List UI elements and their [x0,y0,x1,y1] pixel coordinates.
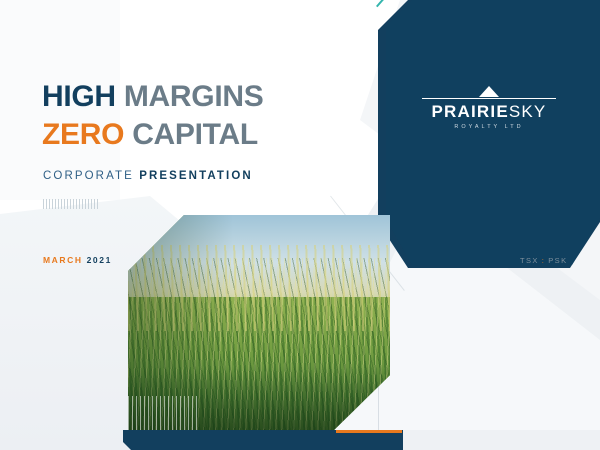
headline-capital: CAPITAL [132,118,258,151]
headline-zero: ZERO [42,118,124,151]
slide-headline: HIGH MARGINS ZERO CAPITAL [42,78,263,155]
headline-margins: MARGINS [124,80,264,113]
logo-chevron-icon [414,86,564,100]
photo-hatch-overlay [128,396,198,430]
footer-accent-orange [336,430,402,433]
footer-bar-navy [123,430,403,450]
hatch-decoration [43,199,99,209]
headline-line-1: HIGH MARGINS [42,78,263,116]
slide-subtitle: CORPORATE PRESENTATION [43,170,253,182]
stock-ticker: TSX:PSK [520,256,568,265]
logo-subtitle: ROYALTY LTD [414,124,564,130]
date-year: 2021 [87,255,112,265]
brand-panel-inner [386,0,600,265]
ticker-separator: : [539,256,548,265]
ticker-exchange: TSX [520,256,539,265]
date-month: MARCH [43,255,83,265]
logo-word-first: PRAIRIE [432,102,509,121]
footer-bar-light [403,430,600,450]
prairiesky-logo: PRAIRIESKY ROYALTY LTD [414,86,564,130]
headline-line-2: ZERO CAPITAL [42,116,263,154]
subtitle-presentation: PRESENTATION [139,170,253,182]
presentation-title-slide: PRAIRIESKY ROYALTY LTD HIGH MARGINS ZERO… [0,0,600,450]
slide-date: MARCH 2021 [43,255,112,265]
headline-high: HIGH [42,80,116,113]
subtitle-corporate: CORPORATE [43,170,134,182]
ticker-symbol: PSK [548,256,567,265]
logo-word-second: SKY [509,102,547,121]
logo-wordmark: PRAIRIESKY [414,103,564,120]
